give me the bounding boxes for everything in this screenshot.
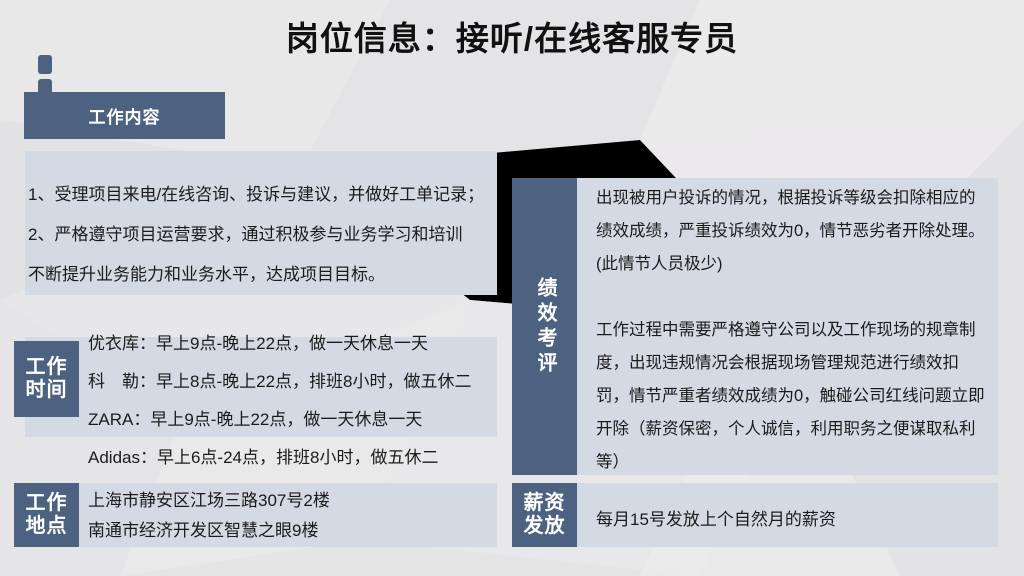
work-hours-line-3: ZARA：早上9点-晚上22点，做一天休息一天 <box>88 401 471 439</box>
label-salary: 薪资 发放 <box>512 483 577 547</box>
work-place-line-1: 上海市静安区江场三路307号2楼 <box>88 486 330 516</box>
section-header-duties-label: 工作内容 <box>89 103 161 128</box>
label-work-hours-line-2: 时间 <box>26 379 68 402</box>
performance-text: 出现被用户投诉的情况，根据投诉等级会扣除相应的绩效成绩，严重投诉绩效为0，情节恶… <box>596 182 986 479</box>
work-place-text: 上海市静安区江场三路307号2楼 南通市经济开发区智慧之眼9楼 <box>88 486 330 546</box>
label-salary-line-1: 薪资 <box>524 492 566 515</box>
salary-text: 每月15号发放上个自然月的薪资 <box>596 500 836 540</box>
work-hours-line-2: 科 勒：早上8点-晚上22点，排班8小时，做五休二 <box>88 363 471 401</box>
performance-paragraph-1: 出现被用户投诉的情况，根据投诉等级会扣除相应的绩效成绩，严重投诉绩效为0，情节恶… <box>596 182 986 281</box>
duties-line-3: 不断提升业务能力和业务水平，达成项目目标。 <box>28 255 484 295</box>
label-work-place-line-2: 地点 <box>26 515 68 538</box>
label-performance: 绩效考评 <box>512 178 577 475</box>
page-title: 岗位信息：接听/在线客服专员 <box>0 12 1024 60</box>
label-work-hours-line-1: 工作 <box>26 356 68 379</box>
slide-canvas: 岗位信息：接听/在线客服专员 工作内容 1、受理项目来电/在线咨询、投诉与建议，… <box>0 0 1024 576</box>
label-performance-text: 绩效考评 <box>532 277 557 377</box>
label-work-place-line-1: 工作 <box>26 492 68 515</box>
performance-paragraph-2: 工作过程中需要严格遵守公司以及工作现场的规章制度，出现违规情况会根据现场管理规范… <box>596 314 986 479</box>
label-salary-line-2: 发放 <box>524 515 566 538</box>
duties-text: 1、受理项目来电/在线咨询、投诉与建议，并做好工单记录； 2、严格遵守项目运营要… <box>28 175 484 295</box>
label-work-hours: 工作 时间 <box>14 341 79 417</box>
work-place-line-2: 南通市经济开发区智慧之眼9楼 <box>88 516 330 546</box>
work-hours-line-1: 优衣库：早上9点-晚上22点，做一天休息一天 <box>88 325 471 363</box>
duties-line-2: 2、严格遵守项目运营要求，通过积极参与业务学习和培训 <box>28 215 484 255</box>
section-header-duties: 工作内容 <box>24 92 225 139</box>
duties-line-1: 1、受理项目来电/在线咨询、投诉与建议，并做好工单记录； <box>28 175 484 215</box>
work-hours-text: 优衣库：早上9点-晚上22点，做一天休息一天 科 勒：早上8点-晚上22点，排班… <box>88 325 471 477</box>
label-work-place: 工作 地点 <box>14 483 79 547</box>
performance-spacer <box>596 281 986 314</box>
work-hours-line-4: Adidas：早上6点-24点，排班8小时，做五休二 <box>88 439 471 477</box>
